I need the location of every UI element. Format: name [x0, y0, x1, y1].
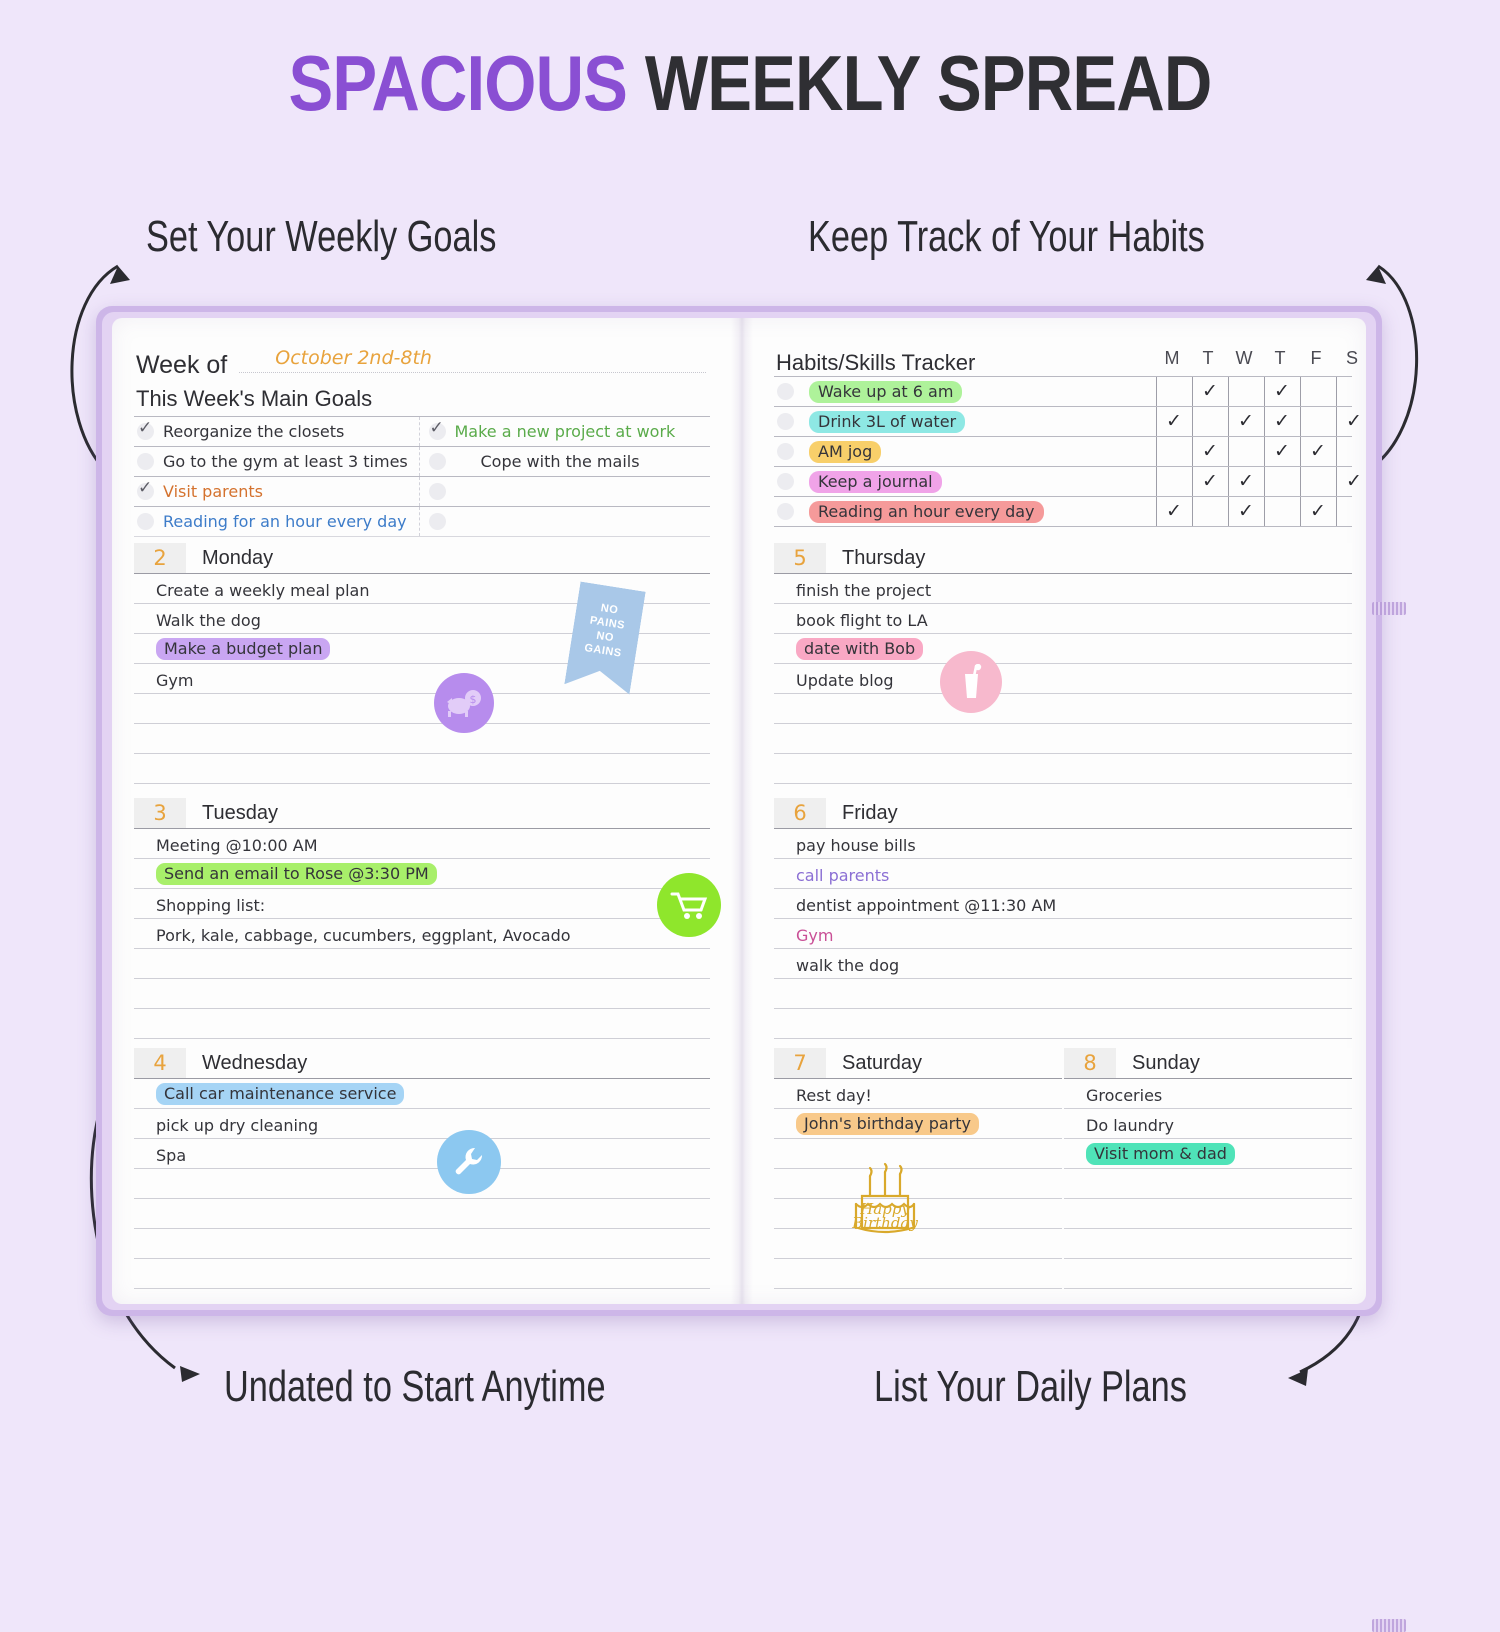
- habit-grid-line: [1336, 407, 1337, 436]
- habit-check-grid: ✓✓✓: [1156, 437, 1352, 466]
- piggy-bank-icon: $: [434, 673, 494, 733]
- goal-cell-right: Make a new project at work: [419, 417, 711, 446]
- day-entry-line[interactable]: book flight to LA: [774, 604, 1352, 634]
- day-entry-line[interactable]: [1064, 1259, 1352, 1289]
- day-entry-line[interactable]: pay house bills: [774, 829, 1352, 859]
- habit-grid-line: [1300, 377, 1301, 406]
- day-number: 5: [774, 546, 826, 570]
- habit-grid-line: [1336, 497, 1337, 526]
- caption-keep-track-habits: Keep Track of Your Habits: [808, 212, 1205, 262]
- habit-grid-line: [1228, 497, 1229, 526]
- day-entry-line[interactable]: [774, 1009, 1352, 1039]
- day-entry-line[interactable]: [134, 1289, 710, 1304]
- habit-day-headers: MTWTFSS: [774, 346, 1352, 374]
- day-block-tuesday: 3TuesdayMeeting @10:00 AMSend an email t…: [134, 798, 710, 1039]
- day-entry-text: Groceries: [1086, 1086, 1162, 1105]
- habit-grid-line: [1192, 407, 1193, 436]
- habit-checkmark[interactable]: ✓: [1304, 440, 1332, 462]
- habit-name-cell: Keep a journal: [774, 467, 1156, 496]
- day-entry-line[interactable]: [134, 1169, 710, 1199]
- day-entry-text: book flight to LA: [796, 611, 928, 630]
- day-number: 3: [134, 801, 186, 825]
- habit-checkmark[interactable]: ✓: [1340, 470, 1366, 492]
- goal-checkbox[interactable]: [429, 453, 446, 470]
- caption-undated-start-anytime: Undated to Start Anytime: [224, 1362, 606, 1412]
- habit-check-grid: ✓✓✓✓: [1156, 467, 1352, 496]
- arrow-head-goals: [110, 266, 130, 284]
- day-entry-text: Meeting @10:00 AM: [156, 836, 318, 855]
- habit-grid-line: [1336, 467, 1337, 496]
- day-entry-line[interactable]: Shopping list:: [134, 889, 710, 919]
- svg-text:Birthday: Birthday: [851, 1214, 918, 1232]
- day-block-wednesday: 4WednesdayCall car maintenance servicepi…: [134, 1048, 710, 1304]
- day-entry-text: Make a budget plan: [156, 638, 330, 660]
- arrow-head-plans: [1288, 1369, 1308, 1386]
- day-entry-line[interactable]: Meeting @10:00 AM: [134, 829, 710, 859]
- day-entry-line[interactable]: Pork, kale, cabbage, cucumbers, eggplant…: [134, 919, 710, 949]
- goal-text: Reorganize the closets: [163, 422, 344, 441]
- day-lines: GroceriesDo laundryVisit mom & dad: [1064, 1079, 1352, 1304]
- right-page: Habits/Skills Tracker MTWTFSS Wake up at…: [752, 318, 1366, 1304]
- goal-checkbox[interactable]: [429, 513, 446, 530]
- goal-cell-left: Reading for an hour every day: [134, 507, 419, 536]
- day-block-friday: 6Fridaypay house billscall parentsdentis…: [774, 798, 1352, 1039]
- svg-text:$: $: [470, 693, 477, 706]
- day-name: Tuesday: [186, 798, 710, 828]
- goal-cell-right: Cope with the mails: [419, 447, 711, 476]
- habit-check-grid: ✓✓✓✓: [1156, 407, 1352, 436]
- goal-checkbox[interactable]: [137, 423, 154, 440]
- day-lines: Meeting @10:00 AMSend an email to Rose @…: [134, 829, 710, 1039]
- habit-grid-line: [1264, 437, 1265, 466]
- day-entry-line[interactable]: dentist appointment @11:30 AM: [774, 889, 1352, 919]
- goal-text: Make a new project at work: [455, 422, 676, 441]
- day-entry-text: Call car maintenance service: [156, 1083, 404, 1105]
- week-of-value: October 2nd-8th: [275, 347, 432, 369]
- day-entry-line[interactable]: Send an email to Rose @3:30 PM: [134, 859, 710, 889]
- habit-name-cell: AM jog: [774, 437, 1156, 466]
- habit-checkbox[interactable]: [777, 503, 794, 520]
- day-entry-line[interactable]: [1064, 1289, 1352, 1304]
- goal-cell-left: Visit parents: [134, 477, 419, 506]
- day-entry-text: pay house bills: [796, 836, 916, 855]
- goal-row: Reorganize the closetsMake a new project…: [134, 416, 710, 446]
- wrench-icon: [437, 1130, 501, 1194]
- caption-list-daily-plans: List Your Daily Plans: [874, 1362, 1187, 1412]
- day-entry-line[interactable]: Groceries: [1064, 1079, 1352, 1109]
- day-entry-text: date with Bob: [796, 638, 923, 660]
- day-entry-text: Visit mom & dad: [1086, 1143, 1235, 1165]
- day-entry-text: Rest day!: [796, 1086, 872, 1105]
- day-lines: Call car maintenance servicepick up dry …: [134, 1079, 710, 1304]
- day-header: 8Sunday: [1064, 1048, 1352, 1079]
- goal-text: Visit parents: [163, 482, 263, 501]
- habit-grid-line: [1228, 437, 1229, 466]
- day-header: 6Friday: [774, 798, 1352, 829]
- day-entry-line[interactable]: call parents: [774, 859, 1352, 889]
- habit-grid-line: [1192, 377, 1193, 406]
- day-entry-text: John's birthday party: [796, 1113, 979, 1135]
- day-number: 8: [1064, 1051, 1116, 1075]
- habit-grid-line: [1156, 407, 1157, 436]
- day-entry-line[interactable]: pick up dry cleaning: [134, 1109, 710, 1139]
- habit-checkbox[interactable]: [777, 383, 794, 400]
- day-entry-line[interactable]: [134, 1229, 710, 1259]
- habit-name-cell: Reading an hour every day: [774, 497, 1156, 526]
- habit-row: Drink 3L of water✓✓✓✓: [774, 406, 1352, 436]
- day-entry-line[interactable]: [1064, 1169, 1352, 1199]
- day-entry-line[interactable]: [134, 949, 710, 979]
- day-entry-line[interactable]: [774, 694, 1352, 724]
- day-entry-text: Gym: [156, 671, 193, 690]
- day-header: 4Wednesday: [134, 1048, 710, 1079]
- habit-day-header-4: F: [1301, 348, 1331, 369]
- day-entry-line[interactable]: Do laundry: [1064, 1109, 1352, 1139]
- habit-grid-line: [1336, 437, 1337, 466]
- goal-text: Cope with the mails: [481, 452, 640, 471]
- day-entry-line[interactable]: Update blog: [774, 664, 1352, 694]
- day-entry-line[interactable]: Spa: [134, 1139, 710, 1169]
- habit-checkmark[interactable]: ✓: [1232, 470, 1260, 492]
- day-entry-text: Gym: [796, 926, 833, 945]
- habit-grid-line: [1228, 377, 1229, 406]
- day-number: 6: [774, 801, 826, 825]
- goal-checkbox[interactable]: [137, 453, 154, 470]
- caption-set-weekly-goals: Set Your Weekly Goals: [146, 212, 496, 262]
- habit-day-header-2: W: [1229, 348, 1259, 369]
- day-entry-text: Walk the dog: [156, 611, 261, 630]
- day-entry-line[interactable]: date with Bob: [774, 634, 1352, 664]
- day-entry-line[interactable]: Call car maintenance service: [134, 1079, 710, 1109]
- day-name: Sunday: [1116, 1048, 1352, 1078]
- day-entry-line[interactable]: Rest day!: [774, 1079, 1062, 1109]
- day-entry-text: call parents: [796, 866, 889, 885]
- drink-icon: [940, 651, 1002, 713]
- goals-section-title: This Week's Main Goals: [136, 386, 372, 412]
- day-entry-line[interactable]: [1064, 1199, 1352, 1229]
- habit-grid-line: [1228, 407, 1229, 436]
- habit-checkbox[interactable]: [777, 473, 794, 490]
- habit-checkmark[interactable]: ✓: [1196, 440, 1224, 462]
- goal-checkbox[interactable]: [137, 483, 154, 500]
- day-entry-text: pick up dry cleaning: [156, 1116, 318, 1135]
- day-lines: pay house billscall parentsdentist appoi…: [774, 829, 1352, 1039]
- day-number: 2: [134, 546, 186, 570]
- left-page: Week of October 2nd-8th This Week's Main…: [112, 318, 732, 1304]
- day-entry-line[interactable]: [774, 724, 1352, 754]
- day-number: 4: [134, 1051, 186, 1075]
- day-entry-text: finish the project: [796, 581, 931, 600]
- habit-checkmark[interactable]: ✓: [1340, 410, 1366, 432]
- day-entry-text: Do laundry: [1086, 1116, 1174, 1135]
- habit-row: Keep a journal✓✓✓✓: [774, 466, 1352, 496]
- habit-checkmark[interactable]: ✓: [1268, 440, 1296, 462]
- birthday-cake-sticker: Happy Birthday: [830, 1158, 940, 1255]
- day-entry-text: Update blog: [796, 671, 894, 690]
- day-header: 7Saturday: [774, 1048, 1062, 1079]
- habit-row: Wake up at 6 am✓✓✓: [774, 376, 1352, 406]
- habit-day-header-0: M: [1157, 348, 1187, 369]
- habit-check-grid: ✓✓✓: [1156, 377, 1352, 406]
- day-entry-line[interactable]: [134, 754, 710, 784]
- day-entry-text: Send an email to Rose @3:30 PM: [156, 863, 437, 885]
- habit-grid-line: [1156, 377, 1157, 406]
- habit-grid-line: [1192, 437, 1193, 466]
- day-entry-text: Create a weekly meal plan: [156, 581, 370, 600]
- arrow-head-habits: [1366, 266, 1386, 284]
- habit-grid-line: [1300, 407, 1301, 436]
- week-of-input[interactable]: October 2nd-8th: [239, 348, 706, 373]
- page-gutter: [731, 318, 753, 1304]
- binding-top-right: [1372, 602, 1406, 615]
- habit-checkmark[interactable]: ✓: [1196, 470, 1224, 492]
- day-entry-line[interactable]: [1064, 1229, 1352, 1259]
- habit-row: AM jog✓✓✓: [774, 436, 1352, 466]
- habit-grid-line: [1300, 437, 1301, 466]
- goal-row: Reading for an hour every day: [134, 506, 710, 537]
- day-name: Thursday: [826, 543, 1352, 573]
- habit-checkmark[interactable]: ✓: [1196, 380, 1224, 402]
- day-lines: finish the projectbook flight to LAdate …: [774, 574, 1352, 784]
- week-of-label: Week of: [136, 351, 227, 380]
- habit-grid-line: [1228, 467, 1229, 496]
- day-entry-text: Pork, kale, cabbage, cucumbers, eggplant…: [156, 926, 571, 945]
- habit-row: Reading an hour every day✓✓✓: [774, 496, 1352, 527]
- habit-grid-line: [1156, 437, 1157, 466]
- day-name: Wednesday: [186, 1048, 710, 1078]
- day-entry-line[interactable]: Visit mom & dad: [1064, 1139, 1352, 1169]
- day-entry-line[interactable]: [134, 694, 710, 724]
- day-entry-line[interactable]: [134, 1009, 710, 1039]
- habit-grid-line: [1300, 467, 1301, 496]
- day-entry-line[interactable]: [134, 724, 710, 754]
- day-number: 7: [774, 1051, 826, 1075]
- page-title: SPACIOUS WEEKLY SPREAD: [105, 38, 1395, 129]
- habits-tracker-table: Wake up at 6 am✓✓✓Drink 3L of water✓✓✓✓A…: [774, 376, 1352, 527]
- habit-day-header-1: T: [1193, 348, 1223, 369]
- week-of-row: Week of October 2nd-8th: [136, 348, 706, 380]
- shopping-cart-icon: [657, 873, 721, 937]
- goal-checkbox[interactable]: [429, 423, 446, 440]
- goal-cell-left: Reorganize the closets: [134, 417, 419, 446]
- habit-checkmark[interactable]: ✓: [1160, 410, 1188, 432]
- habit-label: Keep a journal: [809, 471, 942, 493]
- binding-bottom-right: [1372, 1619, 1406, 1632]
- day-name: Saturday: [826, 1048, 1062, 1078]
- day-header: 5Thursday: [774, 543, 1352, 574]
- habit-grid-line: [1156, 497, 1157, 526]
- goal-checkbox[interactable]: [137, 513, 154, 530]
- habit-name-cell: Wake up at 6 am: [774, 377, 1156, 406]
- goal-row: Go to the gym at least 3 timesCope with …: [134, 446, 710, 476]
- habit-label: AM jog: [809, 441, 881, 463]
- habit-checkmark[interactable]: ✓: [1232, 500, 1260, 522]
- day-entry-line[interactable]: [774, 754, 1352, 784]
- day-entry-line[interactable]: [134, 1259, 710, 1289]
- day-entry-line[interactable]: [134, 979, 710, 1009]
- habit-label: Wake up at 6 am: [809, 381, 962, 403]
- day-name: Friday: [826, 798, 1352, 828]
- arrow-head-undated: [180, 1366, 200, 1382]
- habit-day-header-5: S: [1337, 348, 1366, 369]
- habit-grid-line: [1156, 467, 1157, 496]
- day-entry-line[interactable]: Gym: [774, 919, 1352, 949]
- habit-checkmark[interactable]: ✓: [1232, 410, 1260, 432]
- habit-grid-line: [1192, 467, 1193, 496]
- day-entry-line[interactable]: John's birthday party: [774, 1109, 1062, 1139]
- planner-notebook: Week of October 2nd-8th This Week's Main…: [96, 306, 1382, 1316]
- habit-grid-line: [1264, 467, 1265, 496]
- day-entry-text: walk the dog: [796, 956, 899, 975]
- day-entry-text: Shopping list:: [156, 896, 265, 915]
- day-entry-line[interactable]: finish the project: [774, 574, 1352, 604]
- habit-grid-line: [1300, 497, 1301, 526]
- day-header: 2Monday: [134, 543, 710, 574]
- habit-checkmark[interactable]: ✓: [1268, 410, 1296, 432]
- day-entry-text: Spa: [156, 1146, 186, 1165]
- flag-sticker-text: NOPAINSNOGAINS: [583, 600, 629, 661]
- habit-checkmark[interactable]: ✓: [1160, 500, 1188, 522]
- habit-grid-line: [1192, 497, 1193, 526]
- habit-grid-line: [1336, 377, 1337, 406]
- goal-text: Reading for an hour every day: [163, 512, 407, 531]
- day-header: 3Tuesday: [134, 798, 710, 829]
- habit-day-header-3: T: [1265, 348, 1295, 369]
- goal-text: Go to the gym at least 3 times: [163, 452, 408, 471]
- habit-label: Drink 3L of water: [809, 411, 965, 433]
- weekly-goals-table: Reorganize the closetsMake a new project…: [134, 416, 710, 537]
- habit-checkbox[interactable]: [777, 443, 794, 460]
- habit-grid-line: [1264, 407, 1265, 436]
- goal-row: Visit parents: [134, 476, 710, 506]
- habit-name-cell: Drink 3L of water: [774, 407, 1156, 436]
- page-title-main: WEEKLY SPREAD: [645, 39, 1212, 127]
- goal-cell-left: Go to the gym at least 3 times: [134, 447, 419, 476]
- day-entry-line[interactable]: [774, 1289, 1062, 1304]
- day-name: Monday: [186, 543, 710, 573]
- goal-cell-right: [419, 477, 711, 506]
- page-title-accent: SPACIOUS: [289, 39, 645, 127]
- day-entry-line[interactable]: [134, 1199, 710, 1229]
- goal-cell-right: [419, 507, 711, 536]
- day-entry-line[interactable]: walk the dog: [774, 949, 1352, 979]
- habit-grid-line: [1264, 377, 1265, 406]
- day-block-thursday: 5Thursdayfinish the projectbook flight t…: [774, 543, 1352, 784]
- habit-checkmark[interactable]: ✓: [1304, 500, 1332, 522]
- day-block-sunday: 8SundayGroceriesDo laundryVisit mom & da…: [1064, 1048, 1352, 1304]
- day-entry-text: dentist appointment @11:30 AM: [796, 896, 1056, 915]
- habit-label: Reading an hour every day: [809, 501, 1044, 523]
- habit-checkbox[interactable]: [777, 413, 794, 430]
- habit-checkmark[interactable]: ✓: [1268, 380, 1296, 402]
- habit-grid-line: [1264, 497, 1265, 526]
- day-entry-line[interactable]: [774, 979, 1352, 1009]
- day-entry-line[interactable]: [774, 1259, 1062, 1289]
- notebook-pages: Week of October 2nd-8th This Week's Main…: [112, 318, 1366, 1304]
- goal-checkbox[interactable]: [429, 483, 446, 500]
- habit-check-grid: ✓✓✓: [1156, 497, 1352, 526]
